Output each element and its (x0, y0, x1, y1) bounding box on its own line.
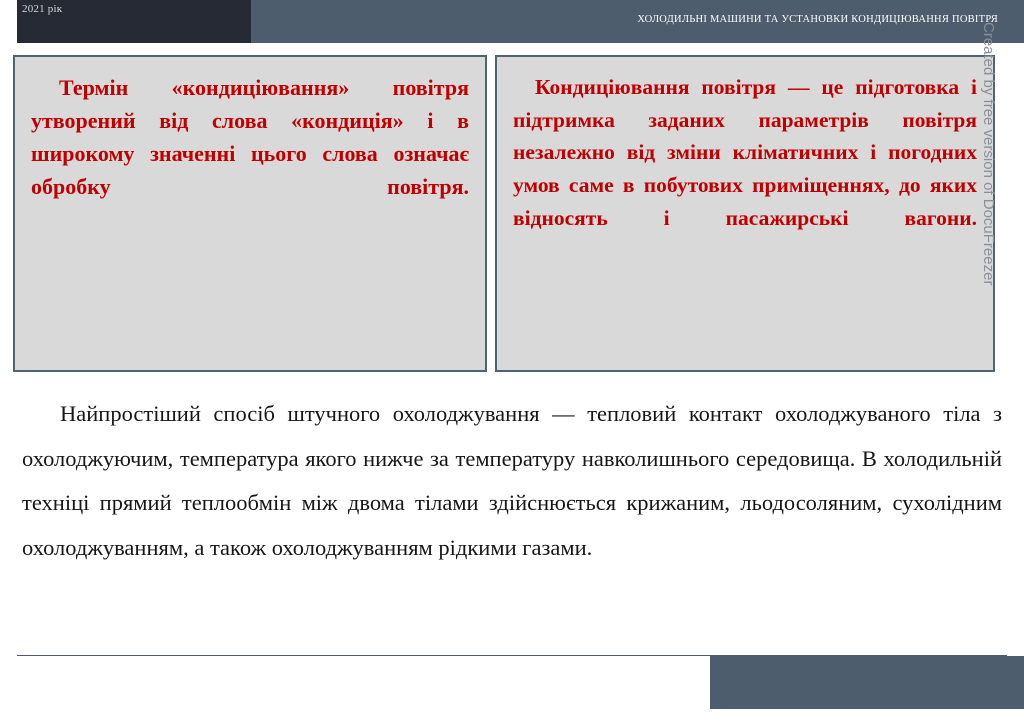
definition-box-right: Кондиціювання повітря — це підготовка і … (495, 55, 995, 372)
header-year-label: 2021 рік (22, 3, 62, 15)
definition-box-left-text: Термін «кондиціювання» повітря утворений… (31, 71, 469, 236)
header-title: ХОЛОДИЛЬНІ МАШИНИ ТА УСТАНОВКИ КОНДИЦІЮВ… (637, 14, 998, 25)
footer-accent-block (710, 656, 1024, 709)
definition-box-left: Термін «кондиціювання» повітря утворений… (13, 55, 487, 372)
body-paragraph: Найпростіший спосіб штучного охолоджуван… (22, 392, 1002, 570)
definition-box-right-text: Кондиціювання повітря — це підготовка і … (513, 71, 977, 267)
